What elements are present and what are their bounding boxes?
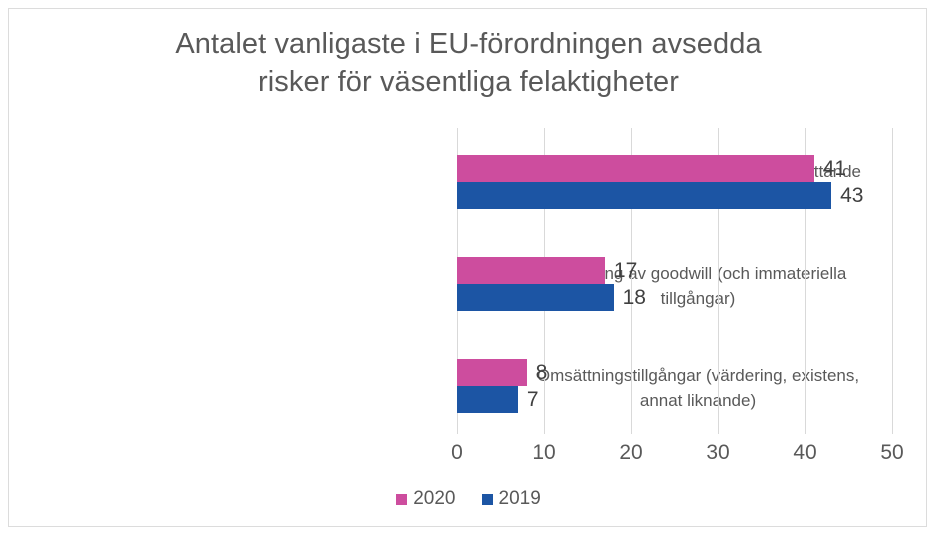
legend-item-2020[interactable]: 2020 [396,488,455,510]
legend-item-2019[interactable]: 2019 [482,488,541,510]
plot-area: 41 43 17 18 8 7 [457,128,892,434]
chart-title-line-1: Antalet vanligaste i EU-förordningen avs… [9,25,928,63]
legend-swatch-2019-icon [482,494,493,505]
legend-label-2019: 2019 [499,488,541,510]
bar-value-2019-2: 7 [518,386,539,413]
chart-title: Antalet vanligaste i EU-förordningen avs… [9,25,928,101]
bar-2019-2[interactable] [457,386,518,413]
chart-container: Antalet vanligaste i EU-förordningen avs… [8,8,927,527]
chart-title-line-2: risker för väsentliga felaktigheter [9,63,928,101]
bar-value-2020-0: 41 [814,155,846,182]
bar-2020-1[interactable] [457,257,605,284]
bar-group-1: 17 18 [457,230,892,330]
x-tick-20: 20 [601,440,661,466]
bar-2020-0[interactable] [457,155,814,182]
bar-2020-2[interactable] [457,359,527,386]
legend-label-2020: 2020 [413,488,455,510]
chart-legend: 2020 2019 [9,488,928,510]
gridline-50 [892,128,893,434]
x-tick-0: 0 [427,440,487,466]
bar-2019-0[interactable] [457,182,831,209]
bar-value-2019-1: 18 [614,284,646,311]
x-tick-30: 30 [688,440,748,466]
bar-value-2020-1: 17 [605,257,637,284]
bar-2019-1[interactable] [457,284,614,311]
x-tick-10: 10 [514,440,574,466]
bar-value-2019-0: 43 [831,182,863,209]
x-tick-50: 50 [862,440,922,466]
bar-value-2020-2: 8 [527,359,548,386]
bar-group-0: 41 43 [457,128,892,228]
bar-group-2: 8 7 [457,332,892,432]
x-tick-40: 40 [775,440,835,466]
legend-swatch-2020-icon [396,494,407,505]
